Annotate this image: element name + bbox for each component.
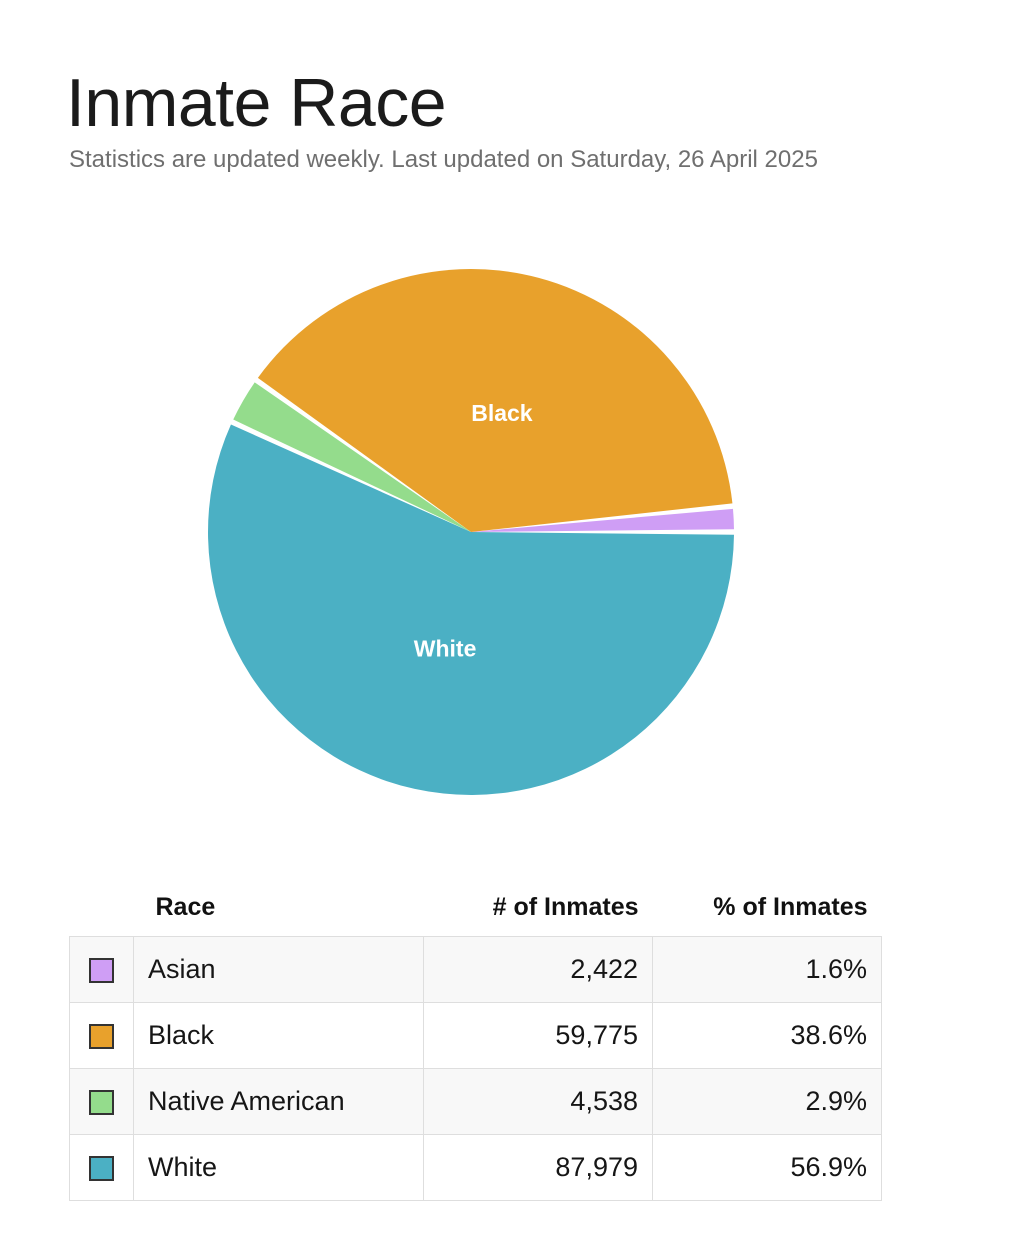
cell-race: Asian: [134, 937, 424, 1003]
row-color-swatch-cell: [70, 1135, 134, 1201]
row-color-swatch-cell: [70, 937, 134, 1003]
column-header-race: Race: [134, 893, 424, 937]
cell-percent: 56.9%: [653, 1135, 882, 1201]
row-color-swatch-cell: [70, 1003, 134, 1069]
stats-table-body: Asian2,4221.6%Black59,77538.6%Native Ame…: [70, 937, 882, 1201]
cell-percent: 38.6%: [653, 1003, 882, 1069]
column-header-count: # of Inmates: [424, 893, 653, 937]
stats-table-head: Race # of Inmates % of Inmates: [70, 893, 882, 937]
page-subtitle: Statistics are updated weekly. Last upda…: [69, 146, 818, 174]
column-header-swatch: [70, 893, 134, 937]
stats-table: Race # of Inmates % of Inmates Asian2,42…: [69, 893, 882, 1201]
table-row: Native American4,5382.9%: [70, 1069, 882, 1135]
table-row: Black59,77538.6%: [70, 1003, 882, 1069]
column-header-percent: % of Inmates: [653, 893, 882, 937]
cell-race: Black: [134, 1003, 424, 1069]
cell-percent: 2.9%: [653, 1069, 882, 1135]
pie-chart-container: BlackWhite: [0, 240, 1014, 840]
color-swatch-icon: [89, 958, 114, 983]
table-row: Asian2,4221.6%: [70, 937, 882, 1003]
row-color-swatch-cell: [70, 1069, 134, 1135]
color-swatch-icon: [89, 1090, 114, 1115]
cell-count: 59,775: [424, 1003, 653, 1069]
table-row: White87,97956.9%: [70, 1135, 882, 1201]
cell-race: White: [134, 1135, 424, 1201]
cell-race: Native American: [134, 1069, 424, 1135]
page-title: Inmate Race: [66, 68, 446, 139]
pie-slice-label-white: White: [414, 635, 477, 661]
pie-chart: BlackWhite: [0, 240, 1014, 820]
cell-count: 2,422: [424, 937, 653, 1003]
pie-slice-label-black: Black: [471, 400, 533, 426]
cell-percent: 1.6%: [653, 937, 882, 1003]
color-swatch-icon: [89, 1024, 114, 1049]
table-header-row: Race # of Inmates % of Inmates: [70, 893, 882, 937]
color-swatch-icon: [89, 1156, 114, 1181]
stats-table-container: Race # of Inmates % of Inmates Asian2,42…: [69, 893, 881, 1201]
page-root: Inmate Race Statistics are updated weekl…: [0, 0, 1014, 1254]
cell-count: 87,979: [424, 1135, 653, 1201]
cell-count: 4,538: [424, 1069, 653, 1135]
